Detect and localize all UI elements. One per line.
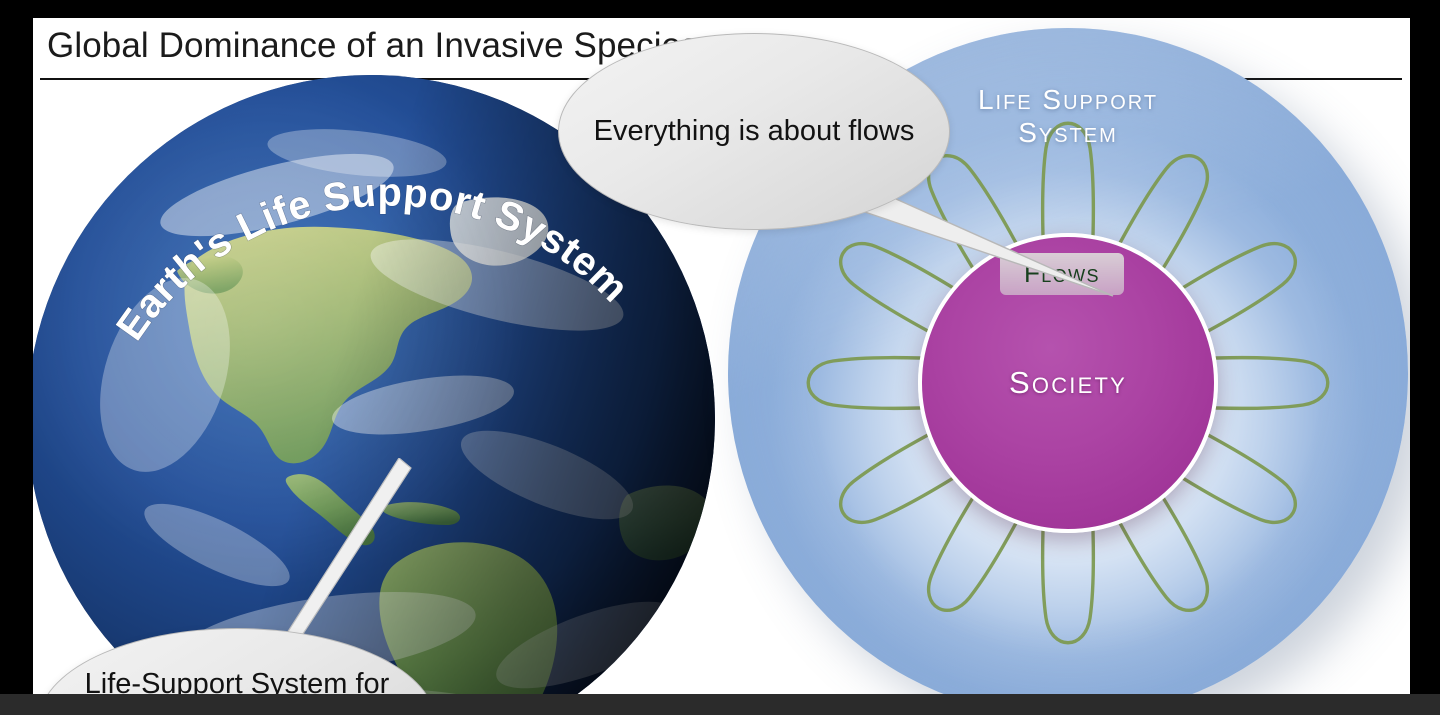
page-title: Global Dominance of an Invasive Species: [47, 26, 699, 66]
letterbox-top: [0, 0, 1440, 18]
lss-title-line2: System: [908, 116, 1228, 149]
life-support-system-title: Life Support System: [908, 83, 1228, 149]
lss-title-line1: Life Support: [908, 83, 1228, 116]
screenshot-root: Global Dominance of an Invasive Species: [0, 0, 1440, 715]
callout-everything-is-about-flows[interactable]: Everything is about flows: [558, 33, 950, 230]
letterbox-right: [1410, 0, 1440, 715]
slide-canvas: Global Dominance of an Invasive Species: [33, 18, 1410, 715]
player-control-bar[interactable]: [0, 694, 1440, 715]
society-label: Society: [922, 365, 1214, 401]
callout-flows-text: Everything is about flows: [594, 114, 915, 150]
earth-caption-text: Earth's Life Support System: [108, 171, 637, 348]
letterbox-left: [0, 0, 33, 715]
